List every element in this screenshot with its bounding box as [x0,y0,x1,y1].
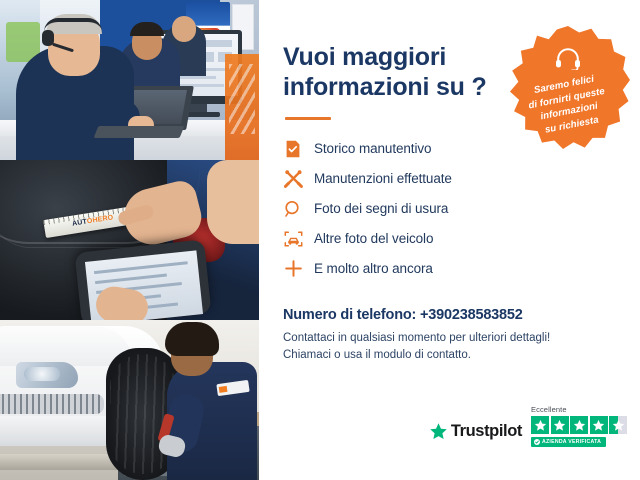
phone-block: Numero di telefono: +390238583852 Contat… [283,307,618,366]
vehicle-inspection-photo: AUTOHERO [0,160,259,320]
autohero-contact-banner: AUTOHERO [0,0,640,480]
document-check-icon [283,139,303,159]
star-filled-1 [531,416,549,434]
feature-label: E molto altro ancora [314,261,433,276]
page-title: Vuoi maggiori informazioni su ? [283,42,498,103]
car-scan-icon [283,229,303,249]
mechanic-wheel-photo [0,320,259,480]
star-filled-3 [570,416,588,434]
verified-label: AZIENDA VERIFICATA [542,439,601,445]
star-filled-2 [551,416,569,434]
rating-label: Eccellente [531,405,567,414]
status-badge: AZIENDA VERIFICATA [531,437,606,447]
photo-column: AUTOHERO [0,0,259,480]
trustpilot-rating: Eccellente [531,405,627,447]
phone-number[interactable]: +390238583852 [420,307,523,323]
verified-check-icon [534,439,540,445]
rating-stars [531,416,627,434]
body-line-2: Chiamaci o usa il modulo di contatto. [283,347,618,365]
feature-item-altre-foto-veicolo: Altre foto del veicolo [283,224,618,254]
magnifier-icon [283,199,303,219]
feature-item-foto-segni-usura: Foto dei segni di usura [283,194,618,224]
feature-label: Foto dei segni di usura [314,201,448,216]
content-panel: Vuoi maggiori informazioni su ? Storico … [259,0,640,480]
feature-item-manutenzioni-effettuate: Manutenzioni effettuate [283,164,618,194]
star-filled-4 [590,416,608,434]
feature-list: Storico manutentivo Manutenzi [283,134,618,284]
request-info-badge: Saremo felici di fornirti queste informa… [506,26,630,150]
star-icon [429,422,448,441]
tools-cross-icon [283,169,303,189]
trustpilot-widget[interactable]: Trustpilot Eccellente [429,405,627,447]
phone-label: Numero di telefono: [283,307,416,323]
trustpilot-wordmark: Trustpilot [451,422,522,441]
trustpilot-logo: Trustpilot [429,422,522,447]
feature-item-molto-altro: E molto altro ancora [283,254,618,284]
feature-label: Manutenzioni effettuate [314,171,452,186]
phone-line: Numero di telefono: +390238583852 [283,307,618,323]
headset-icon [555,48,581,70]
headline-line-1: Vuoi maggiori [283,43,446,71]
headline-line-2: informazioni su ? [283,73,487,101]
contact-body-copy: Contattaci in qualsiasi momento per ulte… [283,330,618,366]
call-center-agent-photo [0,0,259,160]
body-line-1: Contattaci in qualsiasi momento per ulte… [283,330,618,348]
feature-label: Storico manutentivo [314,141,431,156]
accent-divider [285,117,331,120]
plus-icon [283,259,303,279]
star-half-5 [609,416,627,434]
feature-label: Altre foto del veicolo [314,231,433,246]
